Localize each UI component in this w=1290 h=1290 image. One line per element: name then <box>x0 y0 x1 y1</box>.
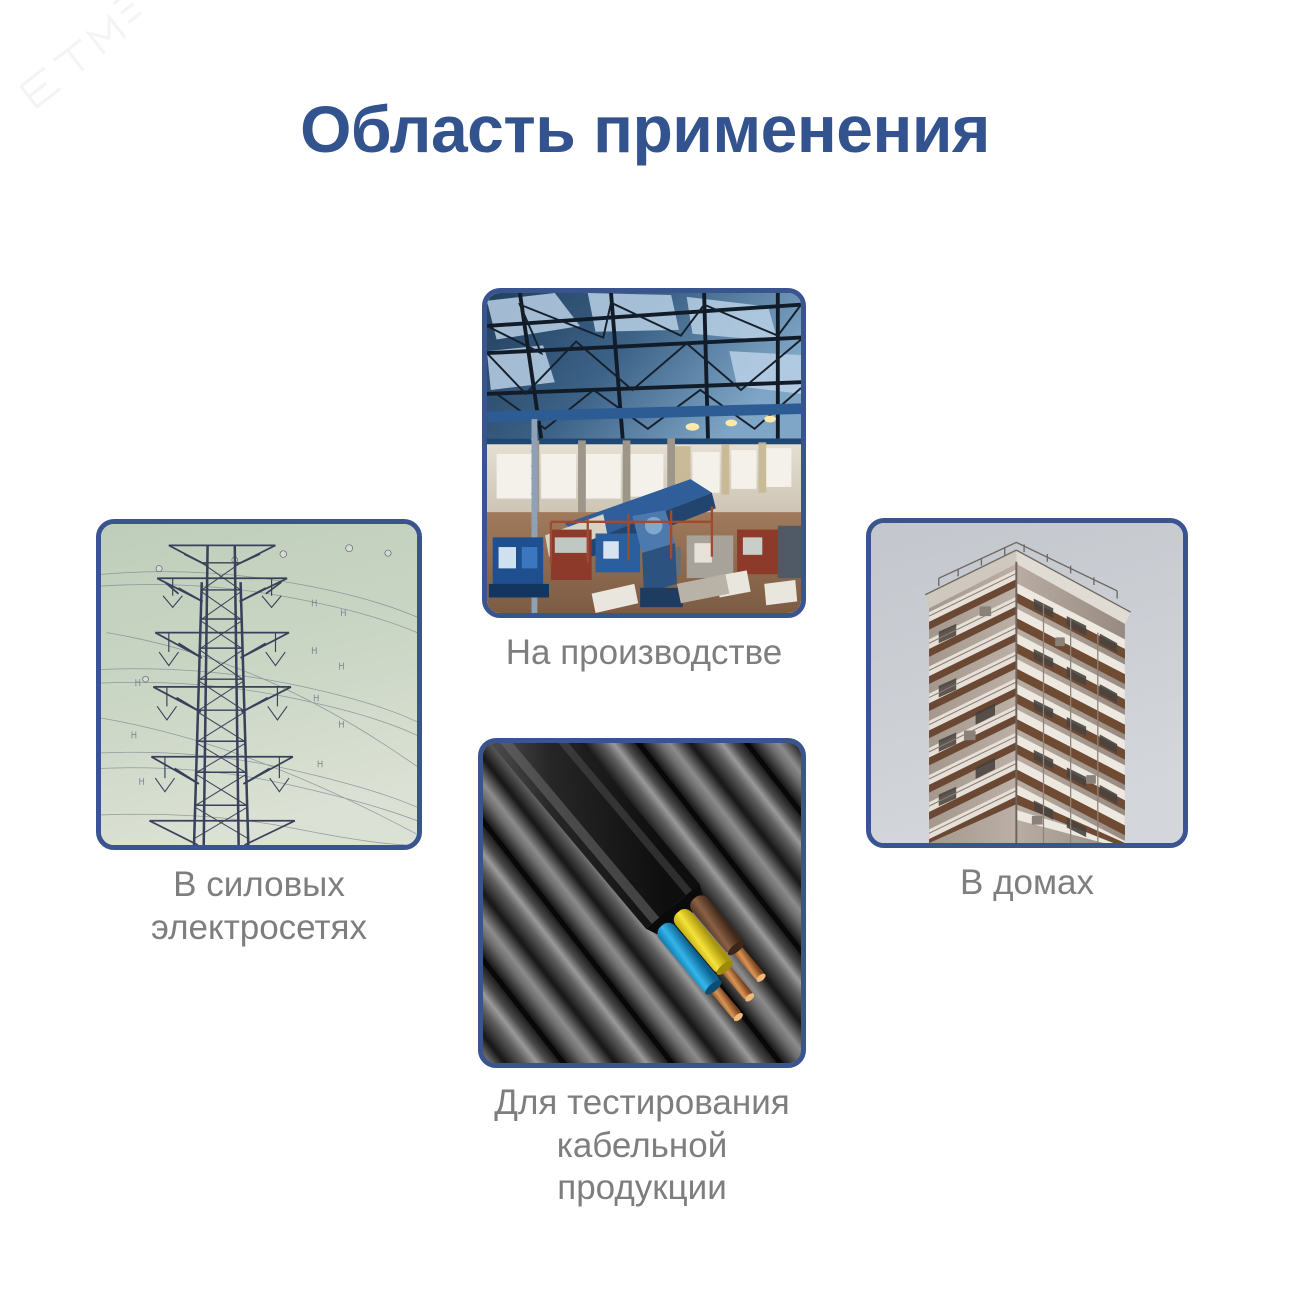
application-card-cable-testing[interactable]: Для тестирования кабельной продукции <box>478 738 806 1210</box>
card-caption: Для тестирования кабельной продукции <box>478 1082 806 1210</box>
application-card-production[interactable]: На производстве <box>482 288 806 675</box>
slide-root: Область применения <box>0 0 1290 1290</box>
apartment-tower-building-photo <box>866 518 1188 848</box>
high-voltage-transmission-tower-photo <box>96 519 422 850</box>
application-card-homes[interactable]: В домах <box>866 518 1188 905</box>
card-caption: На производстве <box>482 632 806 675</box>
page-title: Область применения <box>0 96 1290 162</box>
power-cable-with-copper-conductors-photo <box>478 738 806 1068</box>
application-card-power-grid[interactable]: В силовых электросетях <box>96 519 422 949</box>
card-caption: В домах <box>866 862 1188 905</box>
card-caption: В силовых электросетях <box>96 864 422 949</box>
factory-workshop-interior-photo <box>482 288 806 618</box>
